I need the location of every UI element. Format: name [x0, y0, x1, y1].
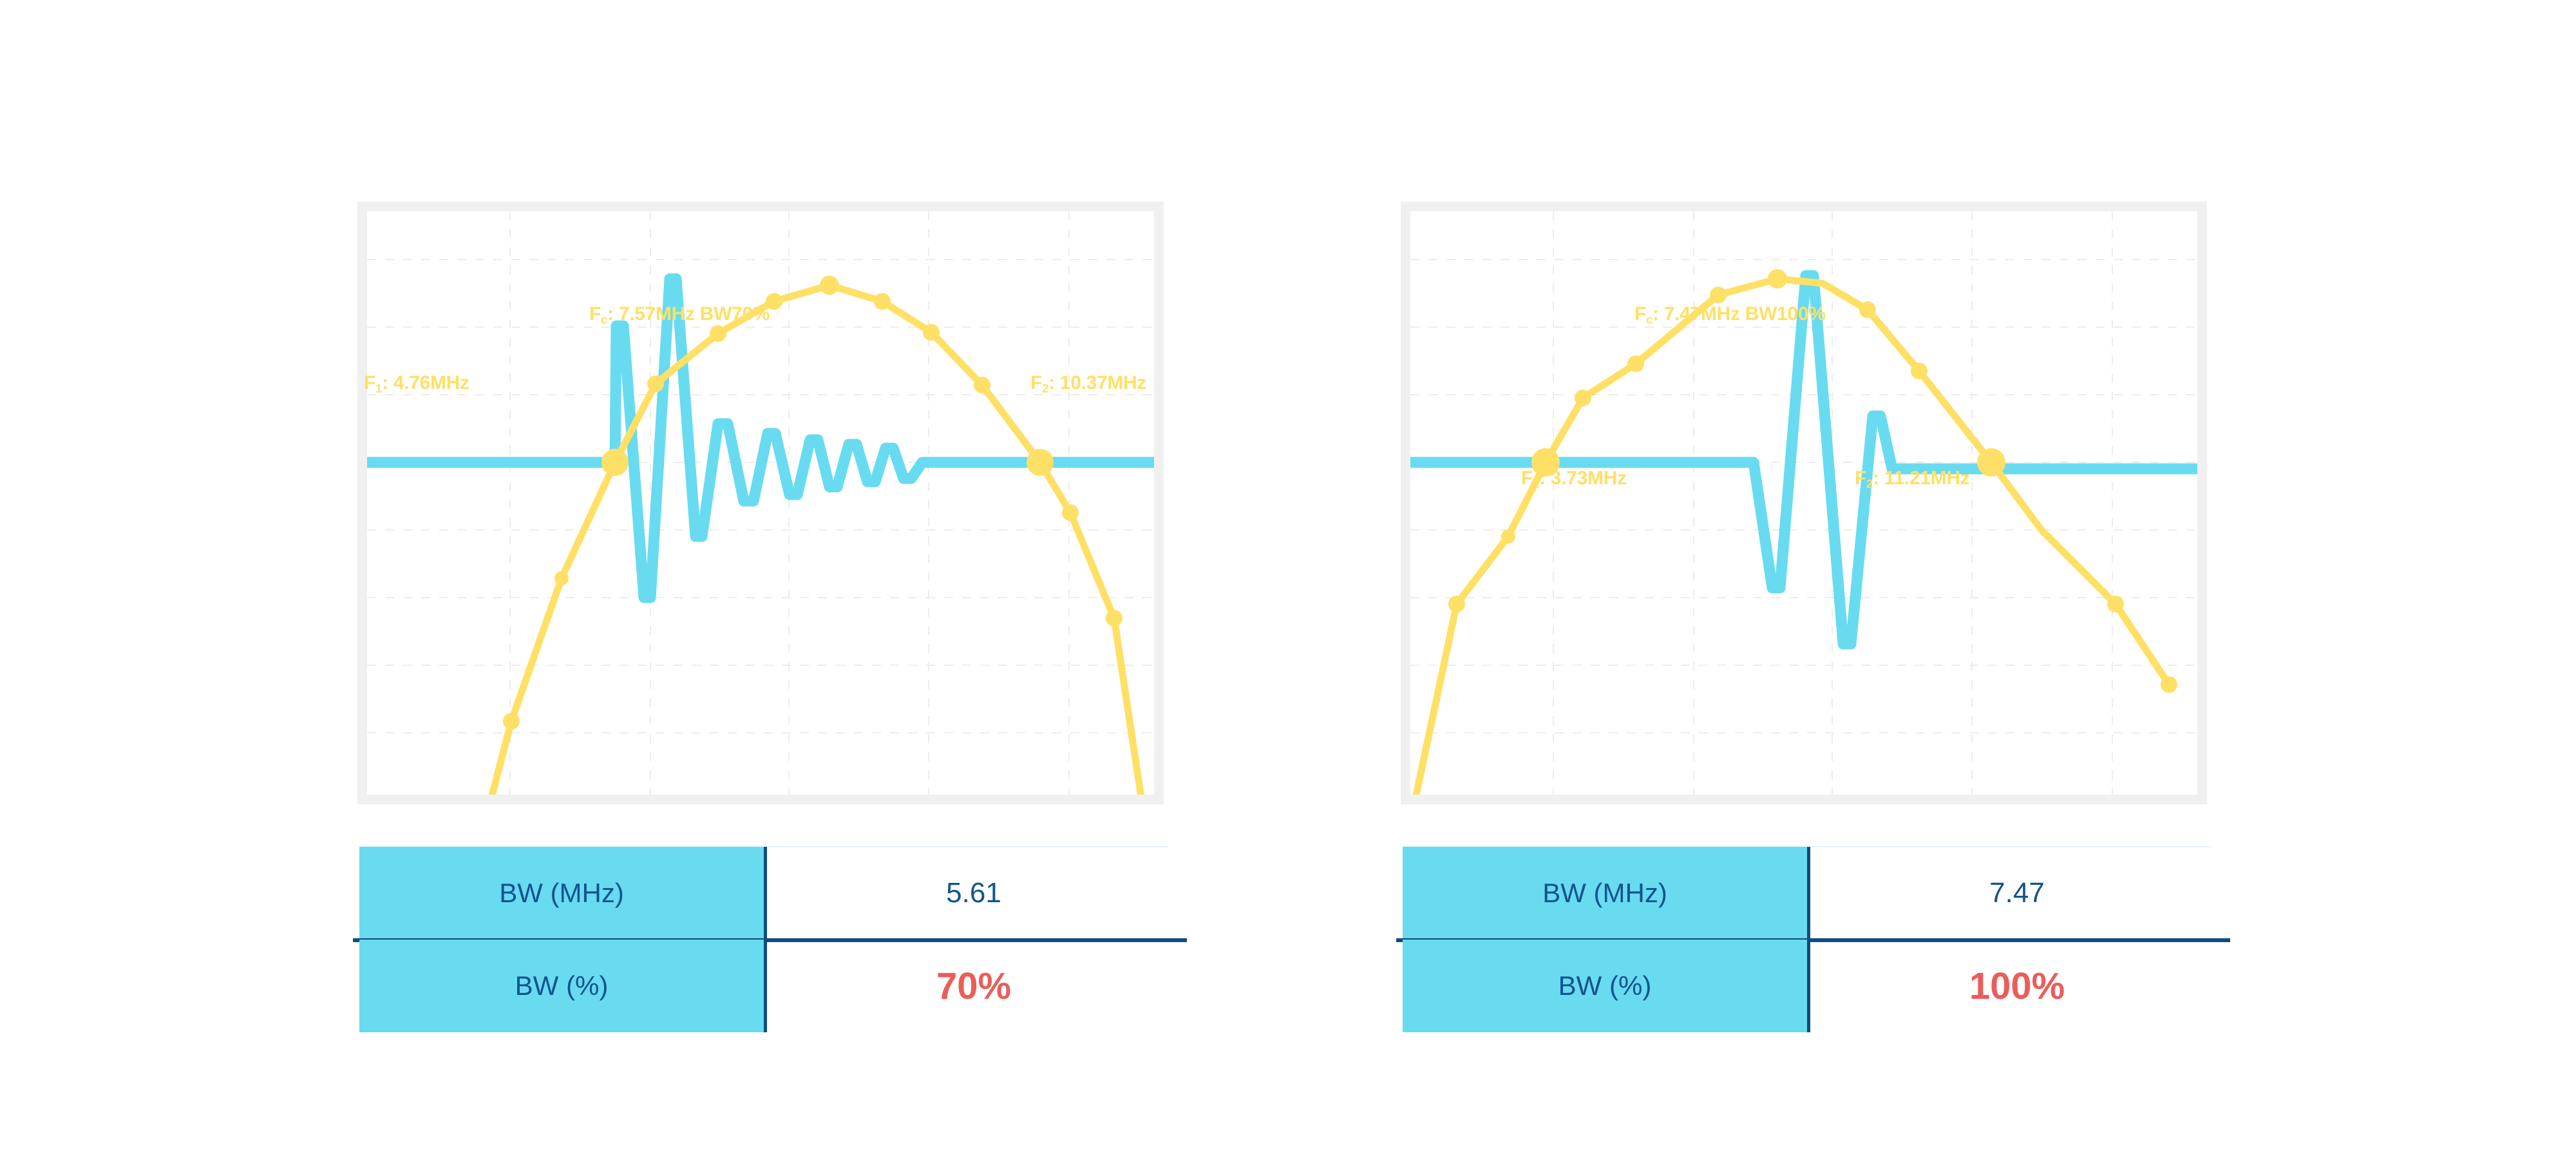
spectrum-plot-bw70: [367, 211, 1154, 795]
table-header-bw-percent: BW (%): [359, 940, 764, 1032]
comparison-figure: Fc: 7.57MHz BW70% F1: 4.76MHz F2: 10.37M…: [0, 0, 2576, 1154]
impulse-response-trace-bw100: [1410, 276, 2197, 644]
table-header-bw-mhz: BW (MHz): [1403, 847, 1807, 940]
spectrum-curve-bw70: [488, 285, 1143, 795]
table-row: BW (%) 70%: [359, 940, 1180, 1032]
table-value-bw-percent: 100%: [1810, 940, 2224, 1032]
table-row: BW (MHz) 7.47: [1403, 847, 2224, 940]
spectrum-plot-bw100: [1410, 211, 2197, 795]
table-value-bw-mhz: 7.47: [1810, 847, 2224, 940]
annotation-upper-cutoff: F2: 10.37MHz: [1030, 372, 1146, 396]
table-value-bw-percent: 70%: [767, 940, 1180, 1032]
annotation-upper-cutoff: F2: 11.21MHz: [1855, 468, 1969, 491]
bandwidth-table-bw100: BW (MHz) 7.47 BW (%) 100%: [1403, 847, 2224, 1032]
annotation-lower-cutoff: F1: 3.73MHz: [1521, 468, 1627, 491]
annotation-center-frequency: Fc: 7.47MHz BW100%: [1634, 303, 1826, 327]
plot-box-bw100: Fc: 7.47MHz BW100% F1: 3.73MHz F2: 11.21…: [1401, 202, 2207, 804]
plot-box-bw70: Fc: 7.57MHz BW70% F1: 4.76MHz F2: 10.37M…: [357, 202, 1164, 804]
table-row: BW (%) 100%: [1403, 940, 2224, 1032]
panel-bw100: Fc: 7.47MHz BW100% F1: 3.73MHz F2: 11.21…: [1391, 0, 2486, 1154]
table-row: BW (MHz) 5.61: [359, 847, 1180, 940]
grid-lines: [367, 211, 1154, 795]
table-header-bw-mhz: BW (MHz): [359, 847, 764, 940]
panel-bw70: Fc: 7.57MHz BW70% F1: 4.76MHz F2: 10.37M…: [348, 0, 1443, 1154]
bandwidth-table-bw70: BW (MHz) 5.61 BW (%) 70%: [359, 847, 1180, 1032]
table-header-bw-percent: BW (%): [1403, 940, 1807, 1032]
annotation-center-frequency: Fc: 7.57MHz BW70%: [589, 303, 770, 327]
table-value-bw-mhz: 5.61: [767, 847, 1180, 940]
annotation-lower-cutoff: F1: 4.76MHz: [364, 372, 469, 396]
spectrum-curve-bw100: [1413, 279, 2169, 795]
